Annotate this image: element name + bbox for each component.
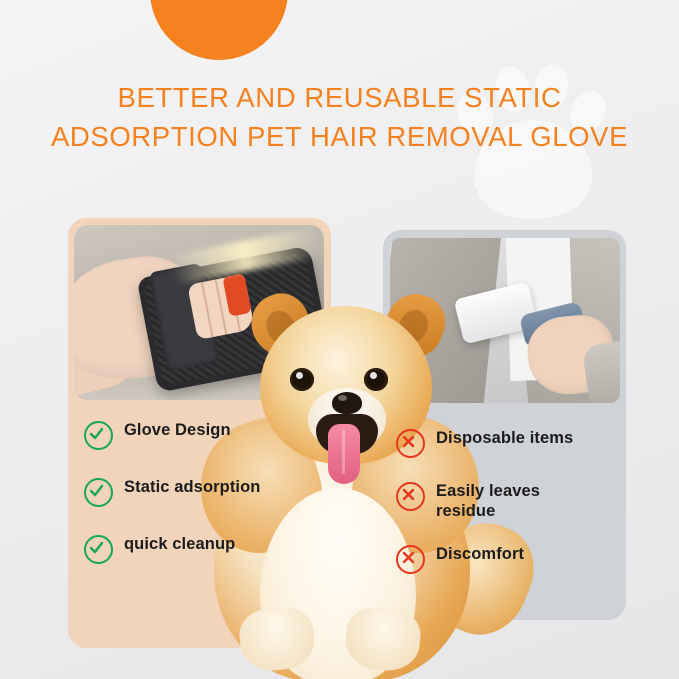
list-item-label: Disposable items — [436, 428, 573, 448]
list-item: Easily leaves residue — [396, 481, 616, 521]
list-item: Glove Design — [84, 420, 304, 450]
check-circle-icon — [84, 535, 113, 564]
list-item-label: Glove Design — [124, 420, 231, 440]
list-item-label: Easily leaves residue — [436, 481, 586, 521]
list-item: Discomfort — [396, 544, 616, 574]
list-item: Disposable items — [396, 428, 616, 458]
list-item-label: Discomfort — [436, 544, 524, 564]
page-title-line-1: BETTER AND REUSABLE STATIC — [118, 82, 562, 113]
product-infographic: BETTER AND REUSABLE STATIC ADSORPTION PE… — [0, 0, 679, 679]
cross-circle-icon — [396, 482, 425, 511]
list-item-label: quick cleanup — [124, 534, 235, 554]
check-circle-icon — [84, 421, 113, 450]
page-title-line-2: ADSORPTION PET HAIR REMOVAL GLOVE — [0, 117, 679, 156]
cross-circle-icon — [396, 545, 425, 574]
cross-circle-icon — [396, 429, 425, 458]
page-title: BETTER AND REUSABLE STATIC ADSORPTION PE… — [0, 78, 679, 156]
list-item: Static adsorption — [84, 477, 304, 507]
cons-list: Disposable items Easily leaves residue D… — [396, 428, 616, 597]
pros-list: Glove Design Static adsorption quick cle… — [84, 420, 304, 591]
list-item: quick cleanup — [84, 534, 304, 564]
check-circle-icon — [84, 478, 113, 507]
list-item-label: Static adsorption — [124, 477, 260, 497]
orange-circle-decoration — [150, 0, 288, 60]
